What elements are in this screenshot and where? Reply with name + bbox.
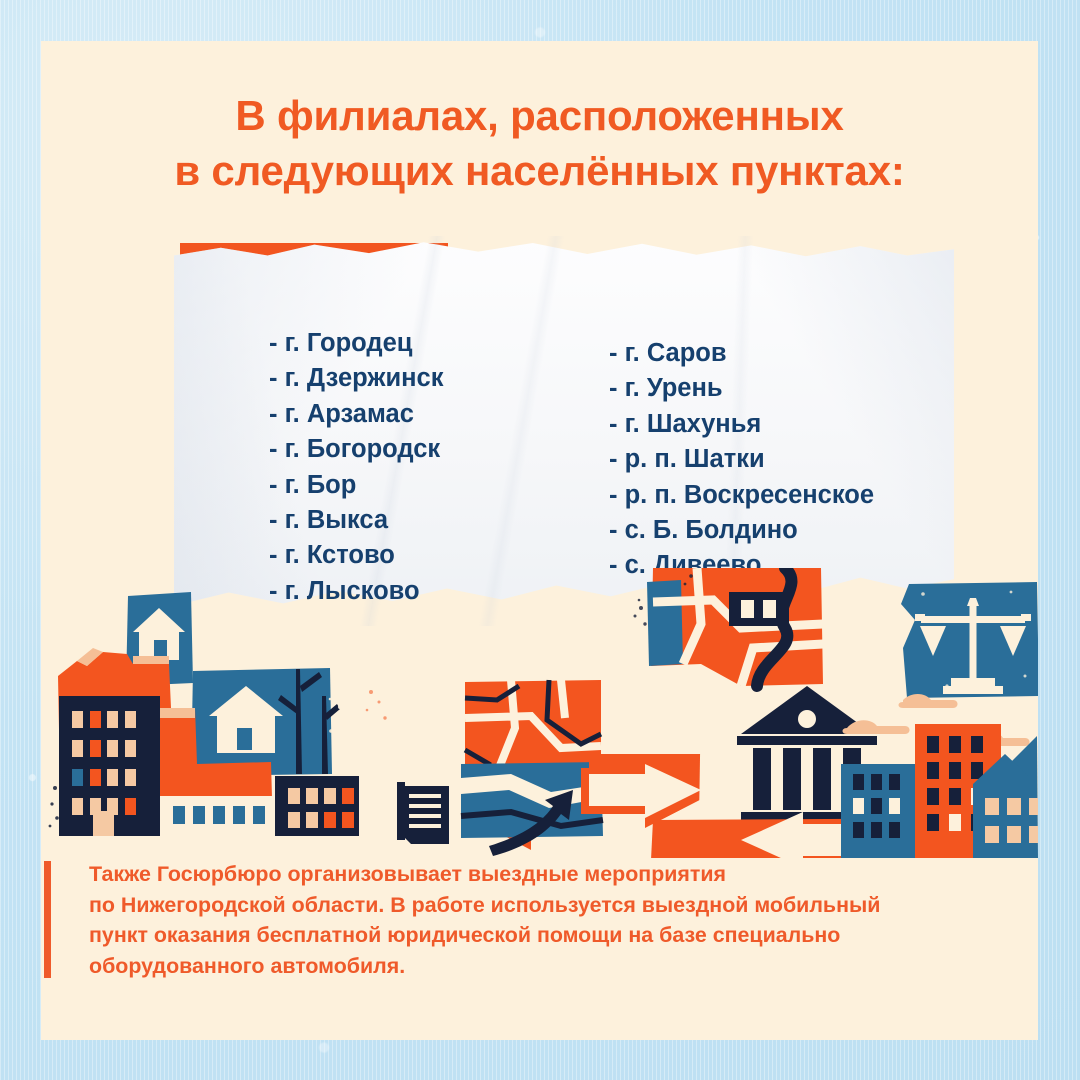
list-item: - г. Городец — [269, 326, 443, 361]
list-item: - г. Богородск — [269, 432, 443, 467]
list-item: - с. Б. Болдино — [609, 513, 874, 548]
building-blue — [841, 764, 915, 858]
list-item: - г. Урень — [609, 371, 874, 406]
locations-right-column: - г. Саров - г. Урень - г. Шахунья - р. … — [609, 336, 874, 584]
list-item: - г. Шахунья — [609, 407, 874, 442]
list-item: - г. Дзержинск — [269, 361, 443, 396]
map-fragment-orange-2 — [634, 568, 824, 686]
footer-note: Также Госюрбюро организовывает выездные … — [89, 859, 999, 981]
locations-left-column: - г. Городец - г. Дзержинск - г. Арзамас… — [269, 326, 443, 609]
document-icon — [397, 782, 449, 844]
apartment-building-navy — [49, 696, 160, 836]
list-item: - г. Бор — [269, 468, 443, 503]
poster-canvas: В филиалах, расположенных в следующих на… — [0, 0, 1080, 1080]
city-illustration — [41, 568, 1038, 858]
list-item: - г. Выкса — [269, 503, 443, 538]
note-accent-bar — [44, 861, 51, 978]
page-title: В филиалах, расположенных в следующих на… — [41, 88, 1038, 199]
building-low-cream — [160, 796, 276, 836]
house-white-roof — [191, 668, 345, 776]
list-item: - г. Арзамас — [269, 397, 443, 432]
scales-of-justice-icon — [901, 582, 1038, 698]
list-item: - р. п. Воскресенское — [609, 478, 874, 513]
list-item: - г. Саров — [609, 336, 874, 371]
paper-speckles — [366, 690, 387, 720]
list-item: - р. п. Шатки — [609, 442, 874, 477]
content-card: В филиалах, расположенных в следующих на… — [41, 41, 1038, 1040]
apartment-building-navy-2 — [275, 776, 359, 836]
